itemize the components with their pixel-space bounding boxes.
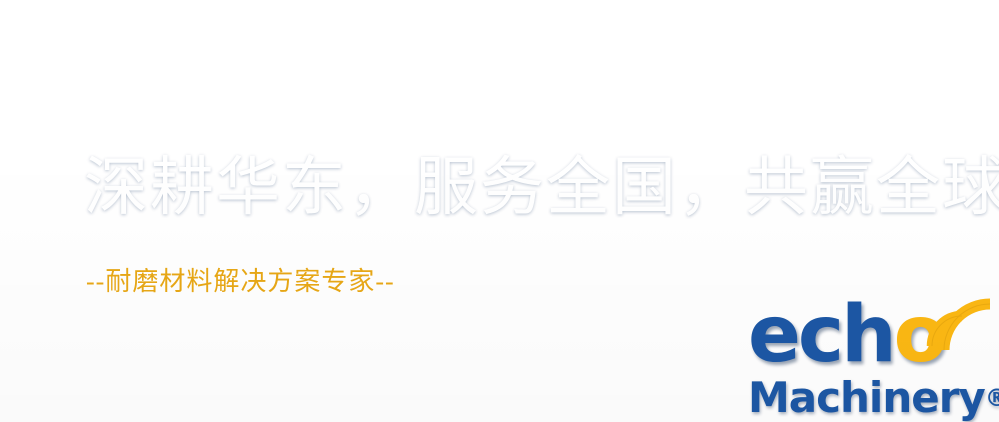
company-logo[interactable]: echo Machinery® — [742, 296, 999, 422]
logo-wordmark: echo — [748, 296, 944, 374]
registered-trademark-icon: ® — [985, 384, 999, 412]
logo-wordmark-echo: ech — [748, 290, 894, 380]
logo-tagline: Machinery® — [748, 376, 999, 420]
hero-banner: 深耕华东，服务全国，共赢全球 --耐磨材料解决方案专家-- echo Machi… — [0, 0, 999, 422]
logo-tagline-text: Machinery — [748, 373, 985, 422]
banner-subheadline: --耐磨材料解决方案专家-- — [86, 266, 395, 298]
wifi-signal-arcs-icon — [922, 294, 998, 360]
banner-headline: 深耕华东，服务全国，共赢全球 — [84, 152, 999, 224]
